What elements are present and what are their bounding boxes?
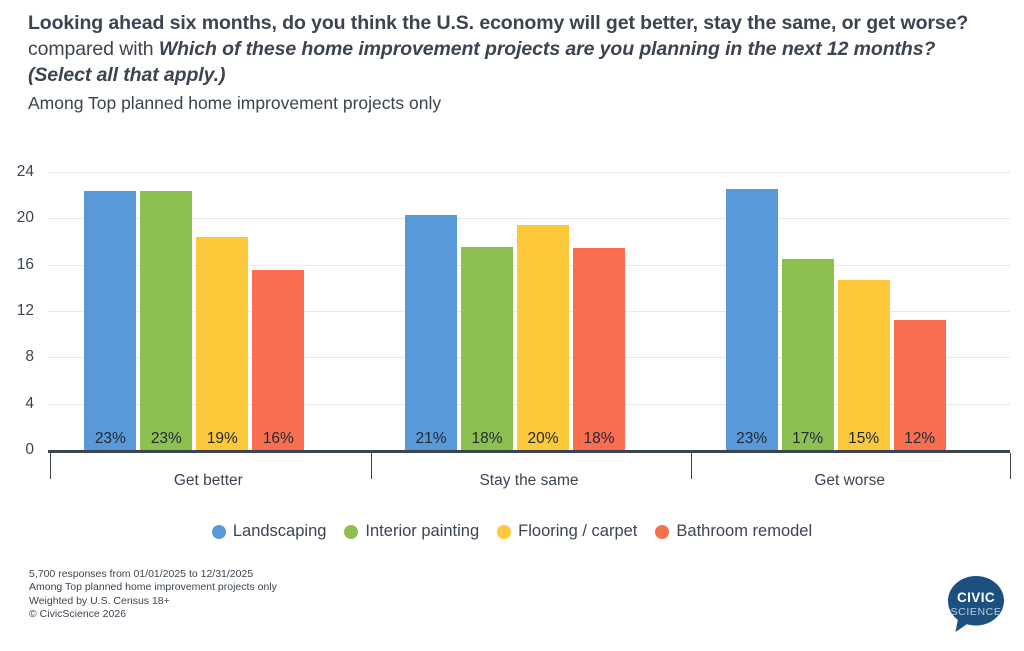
- logo-text-science: SCIENCE: [951, 606, 1002, 618]
- bar-value-label: 15%: [838, 430, 890, 448]
- bar[interactable]: 23%: [140, 191, 192, 450]
- footer-line-responses: 5,700 responses from 01/01/2025 to 12/31…: [29, 568, 277, 581]
- chart-header: Looking ahead six months, do you think t…: [28, 10, 1003, 114]
- bar[interactable]: 12%: [894, 320, 946, 450]
- bar[interactable]: 19%: [196, 237, 248, 450]
- legend-item[interactable]: Flooring / carpet: [497, 522, 637, 541]
- title-connector: compared with: [28, 38, 159, 60]
- plot-area: 23%23%19%16%21%18%20%18%23%17%15%12%: [48, 172, 1010, 450]
- legend-label: Interior painting: [365, 522, 479, 541]
- legend-label: Bathroom remodel: [676, 522, 812, 541]
- bar-value-label: 18%: [461, 430, 513, 448]
- footer-line-filter: Among Top planned home improvement proje…: [29, 581, 277, 594]
- bar[interactable]: 15%: [838, 280, 890, 450]
- legend-color-swatch-icon: [212, 525, 226, 539]
- gridline: [48, 172, 1010, 173]
- bar-value-label: 20%: [517, 430, 569, 448]
- x-axis-tick: [1010, 453, 1011, 479]
- bar-value-label: 18%: [573, 430, 625, 448]
- x-axis-line: [48, 450, 1010, 453]
- x-axis-group-label: Get worse: [689, 472, 1010, 490]
- chart-legend: LandscapingInterior paintingFlooring / c…: [0, 522, 1024, 541]
- bar[interactable]: 21%: [405, 215, 457, 450]
- footer-line-weighting: Weighted by U.S. Census 18+: [29, 595, 277, 608]
- x-axis-group-label: Get better: [48, 472, 369, 490]
- bar[interactable]: 23%: [726, 189, 778, 450]
- bar[interactable]: 17%: [782, 259, 834, 450]
- legend-label: Flooring / carpet: [518, 522, 637, 541]
- footer-notes: 5,700 responses from 01/01/2025 to 12/31…: [29, 568, 277, 622]
- title-question-primary: Looking ahead six months, do you think t…: [28, 12, 968, 34]
- bar[interactable]: 23%: [84, 191, 136, 450]
- legend-color-swatch-icon: [655, 525, 669, 539]
- bar-value-label: 12%: [894, 430, 946, 448]
- civicscience-logo: CIVIC SCIENCE: [944, 572, 1008, 636]
- bar[interactable]: 20%: [517, 225, 569, 450]
- bar-value-label: 23%: [84, 430, 136, 448]
- bar-value-label: 17%: [782, 430, 834, 448]
- legend-color-swatch-icon: [497, 525, 511, 539]
- x-axis-group-label: Stay the same: [369, 472, 690, 490]
- bar[interactable]: 18%: [573, 248, 625, 450]
- civicscience-logo-icon: CIVIC SCIENCE: [944, 572, 1008, 636]
- page-title: Looking ahead six months, do you think t…: [28, 10, 1003, 88]
- bar[interactable]: 16%: [252, 270, 304, 450]
- logo-text-civic: CIVIC: [957, 590, 995, 605]
- legend-item[interactable]: Bathroom remodel: [655, 522, 812, 541]
- bar-value-label: 19%: [196, 430, 248, 448]
- bar-value-label: 16%: [252, 430, 304, 448]
- chart-canvas: 23%23%19%16%21%18%20%18%23%17%15%12%: [0, 150, 1024, 500]
- bar[interactable]: 18%: [461, 247, 513, 450]
- legend-label: Landscaping: [233, 522, 327, 541]
- page-subtitle: Among Top planned home improvement proje…: [28, 92, 1003, 114]
- bar-value-label: 23%: [726, 430, 778, 448]
- legend-item[interactable]: Interior painting: [344, 522, 479, 541]
- bar-value-label: 23%: [140, 430, 192, 448]
- title-question-secondary: Which of these home improvement projects…: [28, 38, 935, 86]
- footer-line-copyright: © CivicScience 2026: [29, 608, 277, 621]
- legend-item[interactable]: Landscaping: [212, 522, 327, 541]
- bar-value-label: 21%: [405, 430, 457, 448]
- legend-color-swatch-icon: [344, 525, 358, 539]
